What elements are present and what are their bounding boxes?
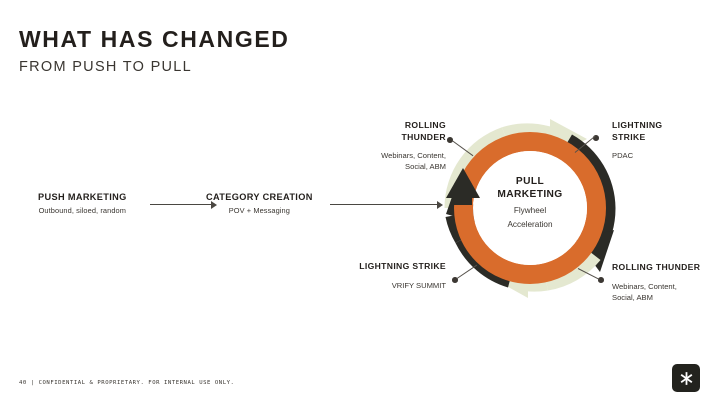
asterisk-logo-icon — [678, 370, 695, 387]
page-subtitle: FROM PUSH TO PULL — [19, 59, 290, 75]
callout-title-line-1: ROLLING THUNDER — [612, 262, 720, 274]
flow-connector-line-2 — [330, 204, 438, 205]
callout-title-line-1: LIGHTNING — [612, 120, 720, 132]
slide-canvas: WHAT HAS CHANGED FROM PUSH TO PULL PUSH … — [0, 0, 720, 405]
callout-sub-line-1: Webinars, Content, — [612, 281, 720, 292]
footer-confidentiality-notice: 40 | CONFIDENTIAL & PROPRIETARY. FOR INT… — [19, 380, 234, 386]
callout-sub-line-2: Social, ABM — [300, 161, 446, 172]
callout-title-line-2: STRIKE — [612, 132, 720, 144]
callout-title-line-1: ROLLING — [300, 120, 446, 132]
callout-sub-line-1: Webinars, Content, — [300, 150, 446, 161]
linear-flow: PUSH MARKETING Outbound, siloed, random … — [38, 192, 458, 232]
title-block: WHAT HAS CHANGED FROM PUSH TO PULL — [19, 27, 290, 75]
callout-lightning-strike-bottom-left: LIGHTNING STRIKE VRIFY SUMMIT — [300, 261, 446, 291]
company-logo — [672, 364, 700, 392]
callout-lightning-strike-top-right: LIGHTNING STRIKE PDAC — [612, 120, 720, 161]
callout-title-line-1: LIGHTNING STRIKE — [300, 261, 446, 273]
flow-connector-line-1 — [150, 204, 212, 205]
flow-step-subtitle: POV + Messaging — [206, 206, 313, 215]
callout-title-line-2: THUNDER — [300, 132, 446, 144]
page-title: WHAT HAS CHANGED — [19, 27, 290, 51]
callout-sub-line-1: PDAC — [612, 150, 720, 161]
flow-step-push-marketing: PUSH MARKETING Outbound, siloed, random — [38, 192, 127, 215]
callout-sub-line-2: Social, ABM — [612, 292, 720, 303]
flow-step-title: CATEGORY CREATION — [206, 192, 313, 202]
callout-rolling-thunder-top-left: ROLLING THUNDER Webinars, Content, Socia… — [300, 120, 446, 172]
center-disc — [473, 151, 587, 265]
callout-sub-line-1: VRIFY SUMMIT — [300, 280, 446, 291]
flow-step-category-creation: CATEGORY CREATION POV + Messaging — [206, 192, 313, 215]
flow-step-subtitle: Outbound, siloed, random — [38, 206, 127, 215]
callout-rolling-thunder-bottom-right: ROLLING THUNDER Webinars, Content, Socia… — [612, 262, 720, 303]
flow-step-title: PUSH MARKETING — [38, 192, 127, 202]
